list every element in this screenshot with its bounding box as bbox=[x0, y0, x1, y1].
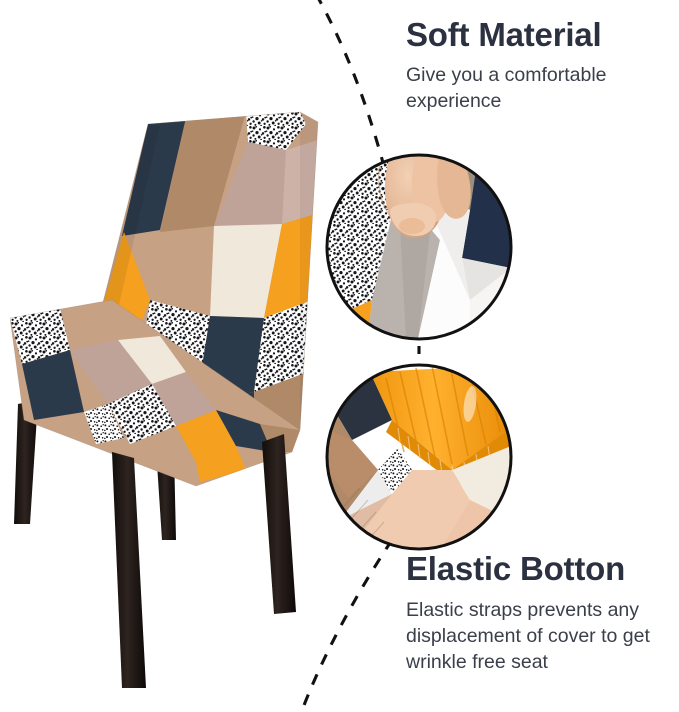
dashed-curve-top bbox=[316, 0, 385, 170]
feature-title-elastic-botton: Elastic Botton bbox=[406, 551, 672, 588]
dashed-curve-bottom bbox=[300, 540, 392, 712]
feature-block-soft-material: Soft Material Give you a comfortable exp… bbox=[406, 17, 668, 115]
callout-circle-soft-material bbox=[327, 148, 511, 339]
callout-circle-elastic-botton bbox=[327, 365, 511, 549]
feature-title-soft-material: Soft Material bbox=[406, 17, 668, 54]
chair-illustration bbox=[0, 100, 340, 688]
feature-description-soft-material: Give you a comfortable experience bbox=[406, 63, 668, 115]
feature-description-elastic-botton: Elastic straps prevents any displacement… bbox=[406, 598, 672, 676]
chair-leg-front-left bbox=[112, 452, 146, 688]
feature-block-elastic-botton: Elastic Botton Elastic straps prevents a… bbox=[406, 551, 672, 676]
chair-leg-front-right bbox=[262, 434, 296, 614]
product-feature-image: Soft Material Give you a comfortable exp… bbox=[0, 0, 679, 712]
dashed-connectors bbox=[300, 0, 419, 712]
